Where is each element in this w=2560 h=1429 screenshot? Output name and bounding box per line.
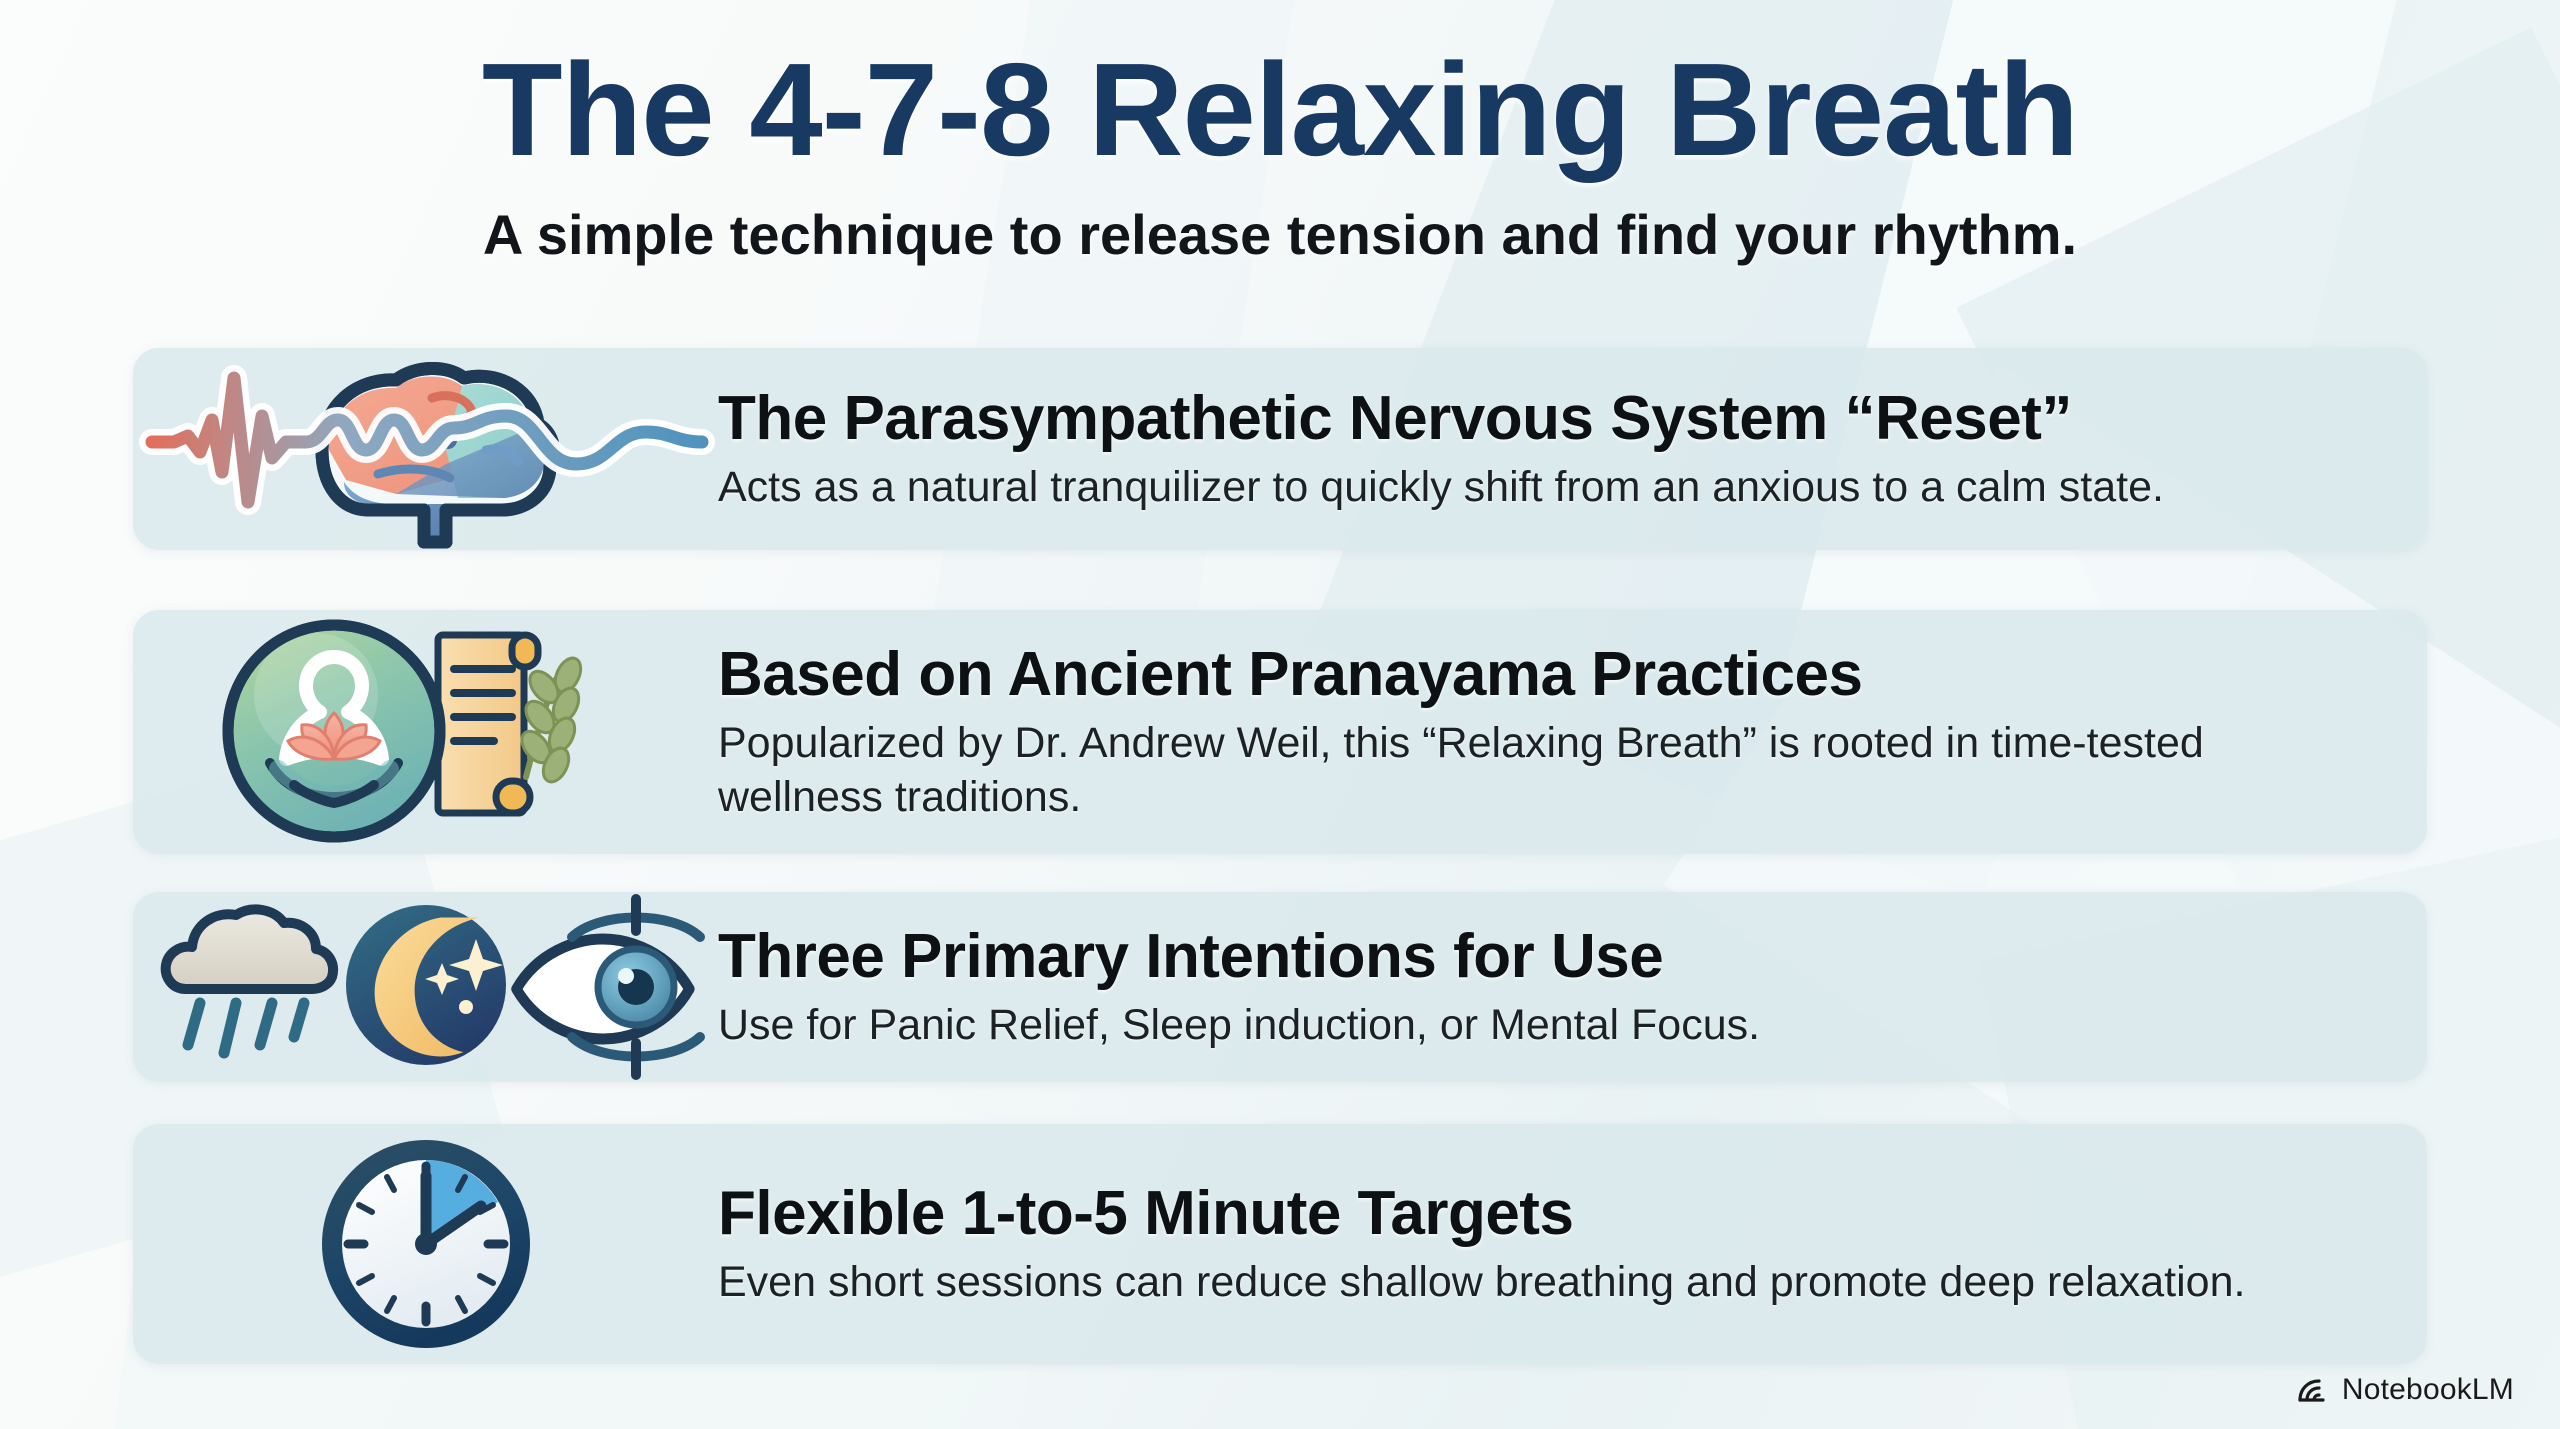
notebooklm-watermark: NotebookLM [2296,1373,2514,1407]
card-body: Popularized by Dr. Andrew Weil, this “Re… [718,716,2375,824]
text-zone: Based on Ancient Pranayama Practices Pop… [718,640,2427,824]
page-title: The 4-7-8 Relaxing Breath [0,0,2560,176]
card-flexible-targets: Flexible 1-to-5 Minute Targets Even shor… [133,1124,2427,1364]
text-zone: The Parasympathetic Nervous System “Rese… [718,384,2427,514]
icon-zone [133,1124,718,1364]
card-parasympathetic-reset: The Parasympathetic Nervous System “Rese… [133,348,2427,550]
notebooklm-spiral-icon [2296,1377,2330,1403]
icon-zone [133,892,718,1082]
icon-zone [133,610,718,854]
card-body: Even short sessions can reduce shallow b… [718,1255,2375,1309]
card-body: Use for Panic Relief, Sleep induction, o… [718,998,2375,1052]
rain-cloud-icon [165,909,332,1053]
eye-focus-icon [516,899,700,1075]
meditation-figure-icon [228,625,440,837]
moon-stars-icon [346,905,506,1065]
scroll-icon [438,635,538,813]
card-title: Based on Ancient Pranayama Practices [718,640,2375,709]
text-zone: Three Primary Intentions for Use Use for… [718,922,2427,1052]
brain-pulse-wave-icon [146,354,706,544]
card-list: The Parasympathetic Nervous System “Rese… [133,348,2427,1364]
rain-cloud-moon-eye-icon [156,897,696,1077]
card-ancient-pranayama: Based on Ancient Pranayama Practices Pop… [133,610,2427,854]
header: The 4-7-8 Relaxing Breath A simple techn… [0,0,2560,267]
card-title: Flexible 1-to-5 Minute Targets [718,1179,2375,1248]
text-zone: Flexible 1-to-5 Minute Targets Even shor… [718,1179,2427,1309]
icon-zone [133,348,718,550]
card-title: Three Primary Intentions for Use [718,922,2375,991]
meditation-scroll-olive-icon [216,617,636,847]
card-title: The Parasympathetic Nervous System “Rese… [718,384,2375,453]
watermark-label: NotebookLM [2342,1373,2514,1407]
card-body: Acts as a natural tranquilizer to quickl… [718,460,2375,514]
clock-icon [316,1134,536,1354]
infographic-poster: The 4-7-8 Relaxing Breath A simple techn… [0,0,2560,1429]
card-three-intentions: Three Primary Intentions for Use Use for… [133,892,2427,1082]
page-subtitle: A simple technique to release tension an… [0,176,2560,267]
